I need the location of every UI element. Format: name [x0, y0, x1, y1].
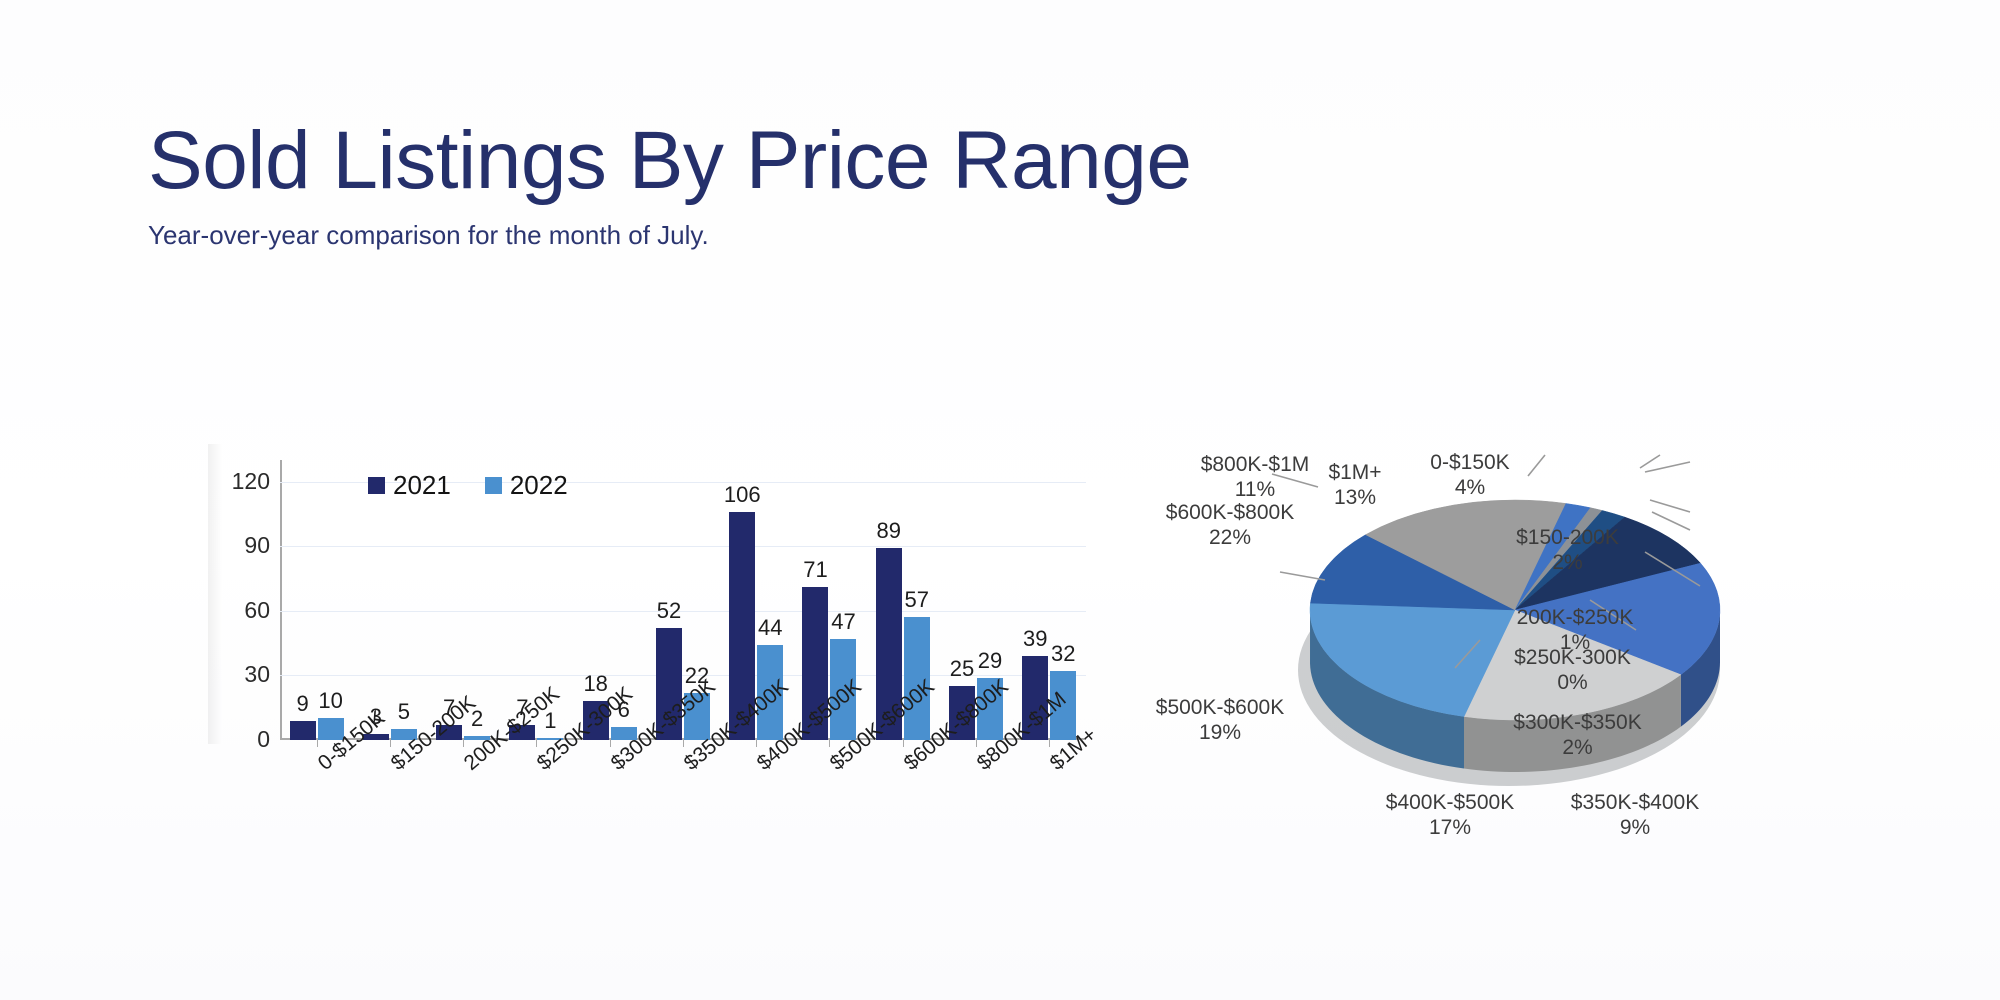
pie-label-percent: 0%: [1480, 670, 1665, 695]
pie-label-percent: 17%: [1355, 815, 1545, 840]
pie-leader-line: [1645, 462, 1690, 472]
pie-label-name: $300K-$350K: [1485, 710, 1670, 735]
bar-value-label: 39: [1023, 626, 1047, 652]
x-axis-labels: 0-$150K$150-200K200K-$250K$250K-300K$300…: [280, 746, 1086, 856]
pie-label-name: $500K-$600K: [1125, 695, 1315, 720]
pie-label-name: $600K-$800K: [1135, 500, 1325, 525]
pie-label-name: $1M+: [1295, 460, 1415, 485]
pie-label-$300K-$350K: $300K-$350K2%: [1485, 710, 1670, 760]
bar-value-label: 71: [803, 557, 827, 583]
pie-label-0-$150K: 0-$150K4%: [1405, 450, 1535, 500]
bar-chart: 0306090120 20212022 91035727118652221064…: [208, 444, 1098, 844]
legend-swatch-icon: [368, 477, 385, 494]
pie-label-name: $350K-$400K: [1545, 790, 1725, 815]
bar-2021[interactable]: 9: [290, 721, 316, 740]
pie-label-percent: 9%: [1545, 815, 1725, 840]
pie-label-name: $150-200K: [1480, 525, 1655, 550]
pie-label-$500K-$600K: $500K-$600K19%: [1125, 695, 1315, 745]
pie-label-name: 200K-$250K: [1485, 605, 1665, 630]
y-axis-tick-label: 30: [244, 661, 270, 688]
pie-label-$350K-$400K: $350K-$400K9%: [1545, 790, 1725, 840]
pie-label-percent: 19%: [1125, 720, 1315, 745]
bar-value-label: 57: [905, 587, 929, 613]
bar-value-label: 52: [657, 598, 681, 624]
page-subtitle: Year-over-year comparison for the month …: [148, 220, 1448, 250]
pie-label-$400K-$500K: $400K-$500K17%: [1355, 790, 1545, 840]
y-axis-tick-label: 60: [244, 597, 270, 624]
x-axis-label: $350K-$400K: [646, 746, 719, 856]
pie-chart: $800K-$1M11%$1M+13%0-$150K4%$150-200K2%2…: [1150, 430, 1970, 910]
legend-swatch-icon: [485, 477, 502, 494]
pie-leader-line: [1652, 512, 1690, 530]
pie-label-percent: 2%: [1480, 550, 1655, 575]
y-axis-tick-label: 120: [232, 467, 270, 494]
pie-leader-line: [1640, 455, 1660, 468]
x-axis-label: $600K-$800K: [866, 746, 939, 856]
legend-label: 2022: [510, 470, 568, 501]
x-axis-label: $300K-$350K: [573, 746, 646, 856]
header: Sold Listings By Price Range Year-over-y…: [148, 118, 1448, 250]
bar-value-label: 47: [831, 609, 855, 635]
bar-value-label: 5: [398, 699, 410, 725]
legend-label: 2021: [393, 470, 451, 501]
legend-item-2022[interactable]: 2022: [485, 470, 568, 501]
pie-label-name: $250K-300K: [1480, 645, 1665, 670]
y-axis-tick-label: 0: [257, 726, 270, 753]
bar-value-label: 32: [1051, 641, 1075, 667]
x-axis-label: $400K-$500K: [720, 746, 793, 856]
bar-value-label: 106: [724, 482, 761, 508]
x-axis-label: $1M+: [1013, 746, 1086, 856]
x-axis-label: $150-200K: [353, 746, 426, 856]
bar-value-label: 9: [297, 691, 309, 717]
bar-group: 910: [280, 460, 353, 740]
bar-value-label: 44: [758, 615, 782, 641]
bar-value-label: 89: [877, 518, 901, 544]
bar-value-label: 25: [950, 656, 974, 682]
pie-leader-line: [1280, 572, 1325, 580]
pie-label-name: $400K-$500K: [1355, 790, 1545, 815]
pie-label-percent: 2%: [1485, 735, 1670, 760]
pie-label-name: 0-$150K: [1405, 450, 1535, 475]
bar-value-label: 29: [978, 648, 1002, 674]
x-axis-label: 200K-$250K: [427, 746, 500, 856]
pie-leader-line: [1650, 500, 1690, 512]
x-axis-label: 0-$150K: [280, 746, 353, 856]
pie-label-percent: 4%: [1405, 475, 1535, 500]
bar-value-label: 18: [583, 671, 607, 697]
x-axis-label: $500K-$600K: [793, 746, 866, 856]
pie-label-$250K-300K: $250K-300K0%: [1480, 645, 1665, 695]
page-title: Sold Listings By Price Range: [148, 118, 1448, 204]
x-axis-label: $250K-300K: [500, 746, 573, 856]
x-axis-label: $800K-$1M: [939, 746, 1012, 856]
pie-label-$600K-$800K: $600K-$800K22%: [1135, 500, 1325, 550]
bar-group: 35: [353, 460, 426, 740]
bar-value-label: 10: [318, 688, 342, 714]
legend-item-2021[interactable]: 2021: [368, 470, 451, 501]
slide-canvas: Sold Listings By Price Range Year-over-y…: [0, 0, 2000, 1000]
pie-label-percent: 22%: [1135, 525, 1325, 550]
chart-legend: 20212022: [368, 470, 568, 501]
pie-label-$150-200K: $150-200K2%: [1480, 525, 1655, 575]
y-axis-tick-label: 90: [244, 532, 270, 559]
